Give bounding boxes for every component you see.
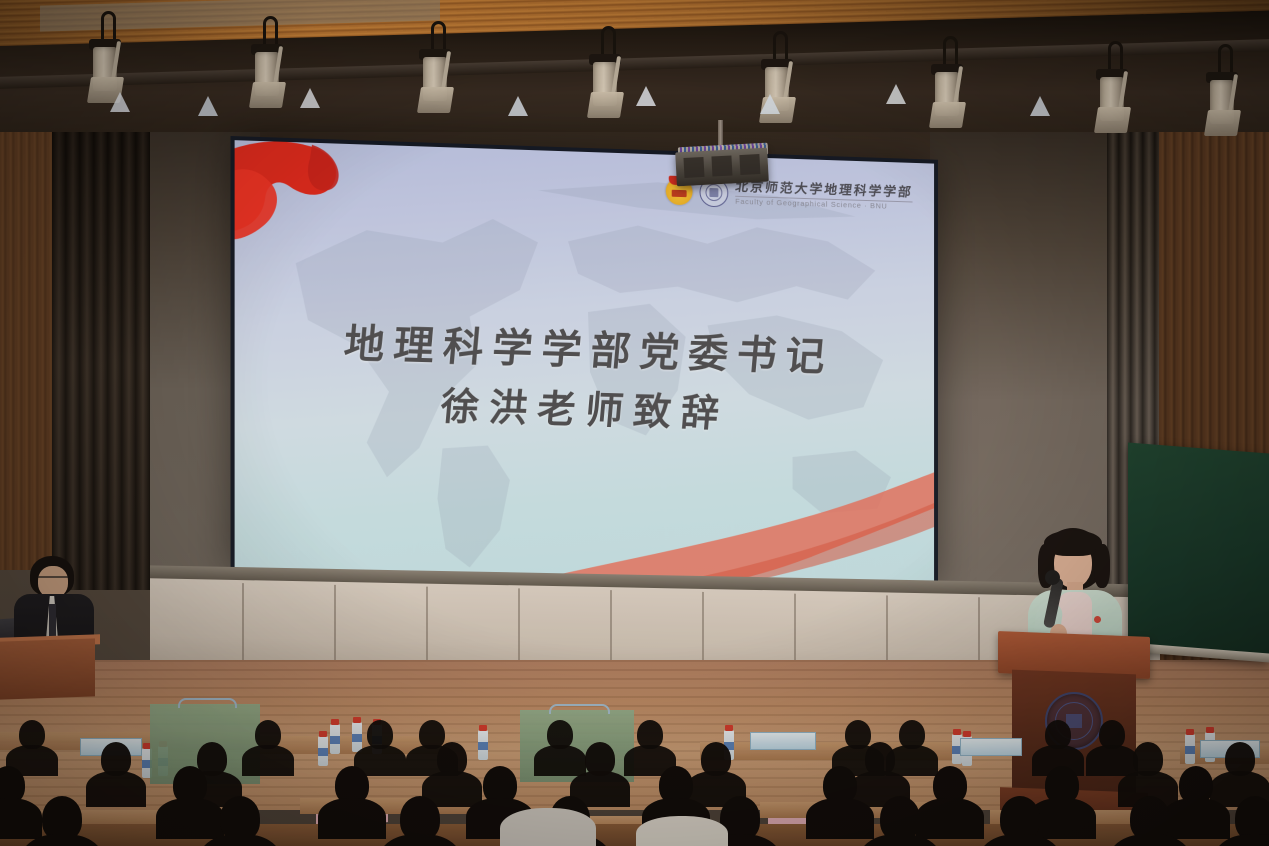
stage-spotlight: [88, 37, 122, 99]
water-bottle: [478, 730, 488, 760]
stage-spotlight: [418, 47, 452, 109]
spotlight-barndoor: [1094, 107, 1131, 133]
bottle-label: [330, 736, 340, 744]
ceiling-paper-flag: [300, 88, 320, 108]
handout-packet: [750, 732, 816, 750]
audience-shoulders: [318, 798, 386, 839]
bottle-cap: [331, 719, 339, 725]
host-tie: [49, 604, 56, 640]
slide-title: 地理科学学部党委书记 徐洪老师致辞: [235, 310, 934, 449]
ceiling-projector: [675, 148, 769, 187]
water-bottle: [1185, 734, 1195, 764]
stage-curtain-left: [52, 90, 157, 590]
spotlight-barndoor: [1204, 110, 1241, 136]
stage-spotlight: [250, 42, 284, 104]
ceiling-paper-flag: [760, 94, 780, 114]
audience-shoulders: [242, 745, 294, 776]
ceiling-paper-flag: [1030, 96, 1050, 116]
bottle-cap: [1186, 729, 1194, 735]
red-ribbon-decoration: [235, 140, 397, 290]
spotlight-barndoor: [587, 92, 624, 118]
water-bottle: [318, 736, 328, 766]
tote-bag-handle: [178, 698, 237, 708]
tote-bag-handle: [549, 704, 610, 714]
ceiling-paper-flag: [636, 86, 656, 106]
audience-shoulders-light: [500, 808, 596, 846]
ceiling-paper-flag: [110, 92, 130, 112]
audience-shoulders: [156, 798, 224, 839]
audience-shoulders: [1162, 798, 1230, 839]
ceiling-paper-flag: [198, 96, 218, 116]
lecture-hall-photo: 北京师范大学地理科学学部 Faculty of Geographical Sci…: [0, 0, 1269, 846]
audience-shoulders-light: [636, 816, 728, 846]
bottle-label: [318, 748, 328, 756]
bottle-label: [352, 734, 362, 742]
speaker-hair-right: [1094, 544, 1110, 588]
speaker-lapel-badge: [1094, 616, 1101, 623]
spotlight-barndoor: [249, 82, 286, 108]
audience-shoulders: [1086, 745, 1138, 776]
audience-shoulders: [916, 798, 984, 839]
bottle-cap: [319, 731, 327, 737]
green-chalkboard: [1128, 442, 1269, 661]
water-bottle: [330, 724, 340, 754]
ceiling-paper-flag: [508, 96, 528, 116]
bottle-cap: [479, 725, 487, 731]
water-bottle: [352, 722, 362, 752]
seated-audience: [0, 690, 1269, 846]
bottle-cap: [963, 731, 971, 737]
stage-spotlight: [1205, 70, 1239, 132]
bottle-label: [478, 742, 488, 750]
projection-screen: 北京师范大学地理科学学部 Faculty of Geographical Sci…: [235, 140, 934, 589]
ceiling-paper-flag: [886, 84, 906, 104]
logo-text-block: 北京师范大学地理科学学部 Faculty of Geographical Sci…: [735, 180, 912, 213]
handout-packet: [960, 738, 1022, 756]
stage-spotlight: [588, 52, 622, 114]
host-glasses: [38, 576, 68, 584]
audience-shoulders: [86, 771, 146, 807]
salmon-swoosh-decoration: [508, 456, 934, 589]
presentation-slide: 北京师范大学地理科学学部 Faculty of Geographical Sci…: [235, 140, 934, 589]
bottle-cap: [953, 729, 961, 735]
bottle-cap: [1206, 727, 1214, 733]
microphone-head-icon: [1045, 570, 1060, 585]
bottle-cap: [725, 725, 733, 731]
spotlight-barndoor: [929, 102, 966, 128]
audience-shoulders: [534, 745, 586, 776]
spotlight-barndoor: [417, 87, 454, 113]
bottle-cap: [353, 717, 361, 723]
stage-spotlight: [930, 62, 964, 124]
bottle-label: [1185, 746, 1195, 754]
stage-spotlight: [1095, 67, 1129, 129]
audience-shoulders: [806, 798, 874, 839]
audience-shoulders: [0, 798, 42, 839]
